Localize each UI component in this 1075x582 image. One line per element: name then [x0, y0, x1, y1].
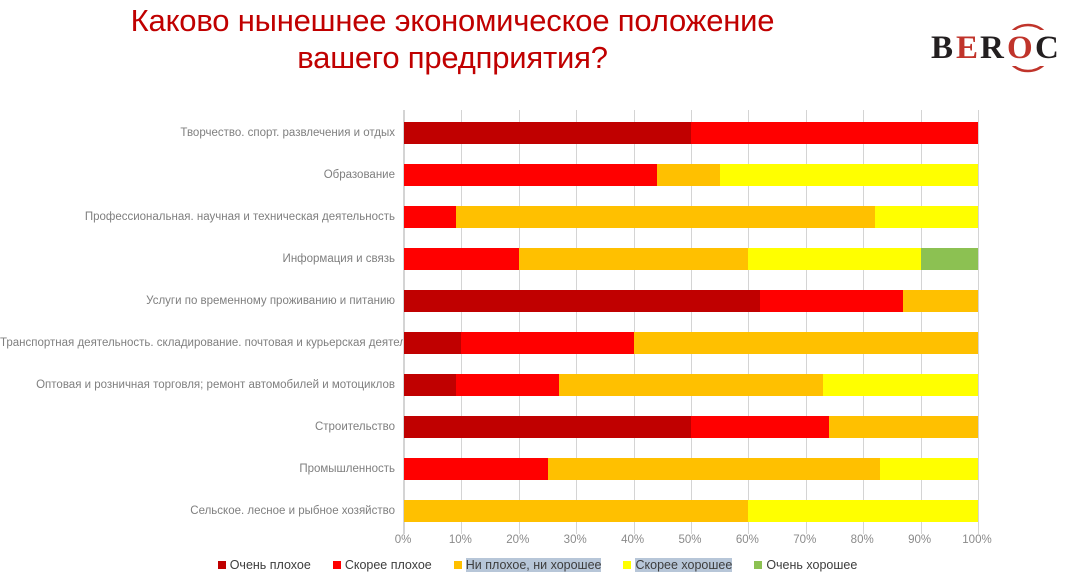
bar-segment[interactable]	[634, 332, 978, 354]
bar-segment[interactable]	[519, 248, 749, 270]
bar-segment[interactable]	[880, 458, 978, 480]
stacked-bar[interactable]	[404, 332, 978, 354]
legend-item[interactable]: Скорее хорошее	[623, 558, 732, 572]
logo-letter-o: O	[1007, 30, 1033, 66]
category-label: Промышленность	[0, 462, 395, 476]
bar-segment[interactable]	[760, 290, 904, 312]
bar-segment[interactable]	[404, 248, 519, 270]
bar-segment[interactable]	[404, 332, 461, 354]
bar-row	[404, 364, 978, 406]
x-tick-label: 70%	[793, 534, 816, 546]
bar-segment[interactable]	[548, 458, 881, 480]
bar-segment[interactable]	[748, 248, 920, 270]
bar-row	[404, 280, 978, 322]
bar-row	[404, 448, 978, 490]
stacked-bar[interactable]	[404, 416, 978, 438]
legend-label: Очень плохое	[230, 558, 311, 572]
bar-segment[interactable]	[404, 458, 548, 480]
bar-segment[interactable]	[691, 416, 829, 438]
stacked-bar[interactable]	[404, 122, 978, 144]
legend-swatch-icon	[754, 561, 762, 569]
x-axis: 0%10%20%30%40%50%60%70%80%90%100%	[403, 534, 977, 554]
stacked-bar[interactable]	[404, 374, 978, 396]
bar-segment[interactable]	[875, 206, 978, 228]
stacked-bar[interactable]	[404, 290, 978, 312]
legend-label: Очень хорошее	[766, 558, 857, 572]
bar-row	[404, 322, 978, 364]
bar-segment[interactable]	[823, 374, 978, 396]
x-tick-label: 0%	[395, 534, 412, 546]
legend-item[interactable]: Очень хорошее	[754, 558, 857, 572]
bar-segment[interactable]	[404, 206, 456, 228]
bar-segment[interactable]	[404, 500, 748, 522]
logo-letter-e: E	[956, 30, 978, 66]
bar-segment[interactable]	[404, 416, 691, 438]
x-tick-label: 90%	[908, 534, 931, 546]
legend-item[interactable]: Ни плохое, ни хорошее	[454, 558, 602, 572]
x-tick-label: 100%	[962, 534, 991, 546]
x-tick-label: 10%	[449, 534, 472, 546]
beroc-logo: B E R O C	[925, 22, 1070, 74]
plot-area	[403, 110, 978, 534]
bar-segment[interactable]	[720, 164, 978, 186]
bar-row	[404, 406, 978, 448]
bar-segment[interactable]	[404, 374, 456, 396]
category-label: Образование	[0, 168, 395, 182]
x-tick-label: 60%	[736, 534, 759, 546]
category-label: Строительство	[0, 420, 395, 434]
logo-letter-r: R	[980, 30, 1005, 66]
category-label: Профессиональная. научная и техническая …	[0, 210, 395, 224]
bar-row	[404, 490, 978, 532]
category-label: Творчество. спорт. развлечения и отдых	[0, 126, 395, 140]
stacked-bar[interactable]	[404, 248, 978, 270]
bar-segment[interactable]	[404, 164, 657, 186]
legend-label: Ни плохое, ни хорошее	[466, 558, 602, 572]
legend-swatch-icon	[333, 561, 341, 569]
bar-segment[interactable]	[829, 416, 978, 438]
stacked-bar[interactable]	[404, 500, 978, 522]
gridline	[978, 110, 979, 534]
bar-segment[interactable]	[404, 290, 760, 312]
logo-letter-b: B	[931, 30, 953, 66]
legend-swatch-icon	[623, 561, 631, 569]
bar-segment[interactable]	[456, 374, 559, 396]
bar-segment[interactable]	[691, 122, 978, 144]
chart-legend: Очень плохоеСкорее плохоеНи плохое, ни х…	[0, 553, 1075, 577]
bar-segment[interactable]	[657, 164, 720, 186]
bar-segment[interactable]	[748, 500, 978, 522]
stacked-bar[interactable]	[404, 206, 978, 228]
stacked-bar[interactable]	[404, 164, 978, 186]
category-label: Транспортная деятельность. складирование…	[0, 336, 395, 350]
beroc-logo-mark: B E R O C	[925, 22, 1070, 74]
legend-swatch-icon	[454, 561, 462, 569]
category-label: Информация и связь	[0, 252, 395, 266]
legend-label: Скорее хорошее	[635, 558, 732, 572]
bar-segment[interactable]	[404, 122, 691, 144]
bar-segment[interactable]	[921, 248, 978, 270]
x-tick-label: 30%	[564, 534, 587, 546]
stacked-bar[interactable]	[404, 458, 978, 480]
bar-row	[404, 154, 978, 196]
x-tick-label: 40%	[621, 534, 644, 546]
stacked-bar-chart: Творчество. спорт. развлечения и отдыхОб…	[0, 105, 1075, 582]
category-label: Оптовая и розничная торговля; ремонт авт…	[0, 378, 395, 392]
legend-item[interactable]: Скорее плохое	[333, 558, 432, 572]
x-tick-label: 50%	[678, 534, 701, 546]
legend-item[interactable]: Очень плохое	[218, 558, 311, 572]
x-tick-label: 80%	[851, 534, 874, 546]
bar-row	[404, 196, 978, 238]
bar-segment[interactable]	[559, 374, 823, 396]
logo-letter-c: C	[1035, 30, 1059, 66]
page-title: Каково нынешнее экономическое положение …	[0, 2, 905, 76]
category-label: Услуги по временному проживанию и питани…	[0, 294, 395, 308]
bar-row	[404, 112, 978, 154]
bar-segment[interactable]	[461, 332, 633, 354]
bar-row	[404, 238, 978, 280]
slide-header: Каково нынешнее экономическое положение …	[0, 0, 1075, 100]
bar-segment[interactable]	[456, 206, 875, 228]
category-label: Сельское. лесное и рыбное хозяйство	[0, 504, 395, 518]
legend-label: Скорее плохое	[345, 558, 432, 572]
bar-segment[interactable]	[903, 290, 978, 312]
x-tick-label: 20%	[506, 534, 529, 546]
legend-swatch-icon	[218, 561, 226, 569]
